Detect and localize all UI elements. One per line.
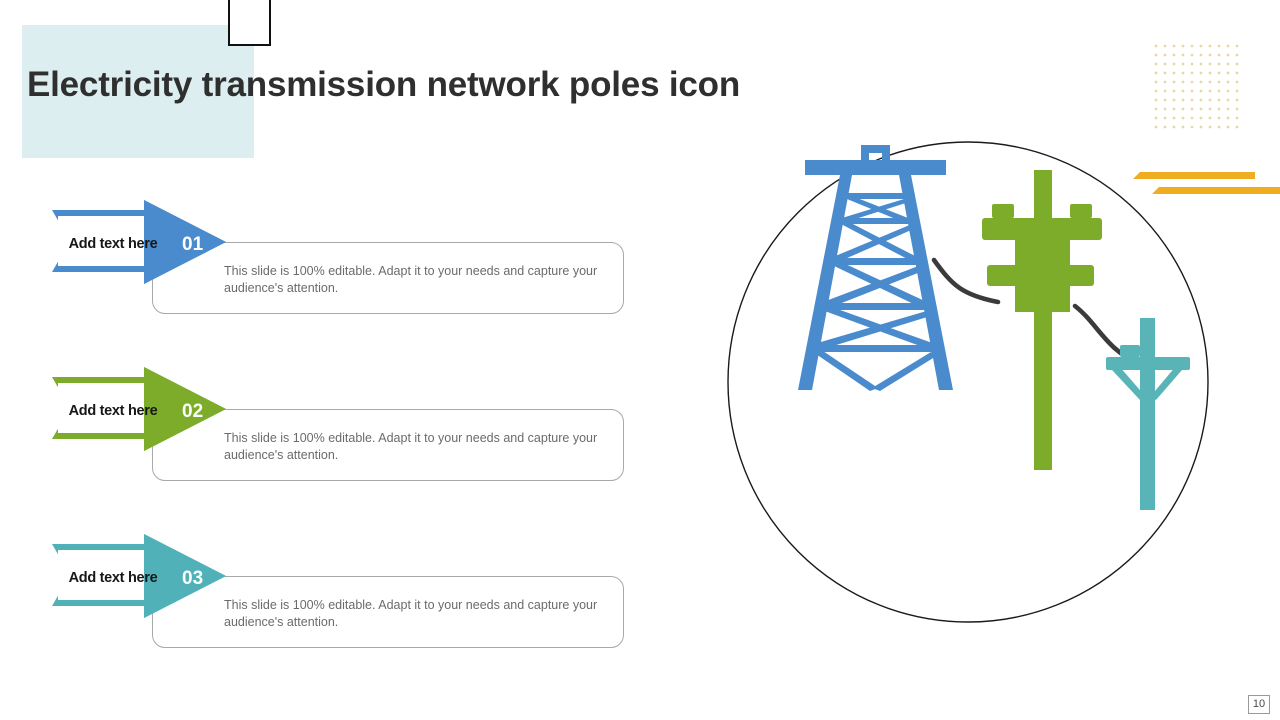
- list-item[interactable]: Add text here 03 This slide is 100% edit…: [0, 530, 680, 680]
- item-number: 01: [182, 234, 218, 256]
- title-accent-square: [228, 0, 271, 46]
- page-title: Electricity transmission network poles i…: [27, 65, 927, 105]
- page-number: 10: [1248, 695, 1270, 714]
- item-number: 02: [182, 401, 218, 423]
- item-label: Add text here: [53, 403, 173, 419]
- amber-bars-decoration: [1130, 165, 1280, 197]
- item-label: Add text here: [53, 570, 173, 586]
- list-item[interactable]: Add text here 01 This slide is 100% edit…: [0, 196, 680, 346]
- slide-canvas: { "slide": { "title": "Electricity trans…: [0, 0, 1280, 720]
- item-description: This slide is 100% editable. Adapt it to…: [224, 597, 604, 630]
- list-item[interactable]: Add text here 02 This slide is 100% edit…: [0, 363, 680, 513]
- dot-grid-decoration: [1154, 44, 1246, 134]
- item-description: This slide is 100% editable. Adapt it to…: [224, 430, 604, 463]
- item-description: This slide is 100% editable. Adapt it to…: [224, 263, 604, 296]
- item-label: Add text here: [53, 236, 173, 252]
- item-number: 03: [182, 568, 218, 590]
